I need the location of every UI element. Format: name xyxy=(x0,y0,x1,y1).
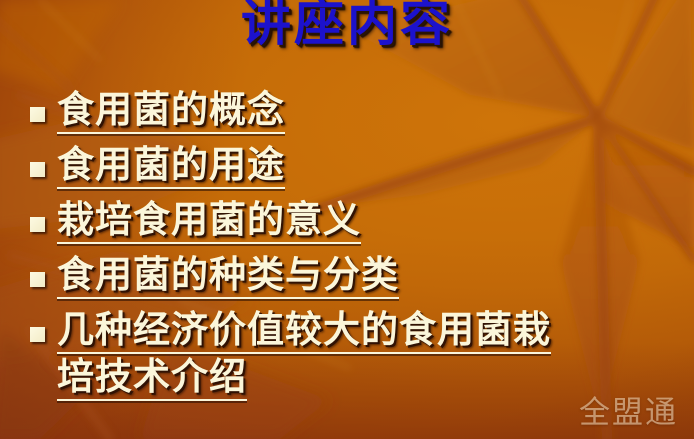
bullet-square-icon xyxy=(30,162,45,177)
bullet-square-icon xyxy=(30,107,45,122)
bullet-item-text: 食用菌的种类与分类 xyxy=(57,251,680,298)
list-item[interactable]: 食用菌的用途 xyxy=(30,141,680,188)
bullet-item-text: 食用菌的概念 xyxy=(57,86,680,133)
bullet-item-text: 食用菌的用途 xyxy=(57,141,680,188)
bullet-item-line1: 食用菌的种类与分类 xyxy=(57,253,399,299)
list-item[interactable]: 食用菌的种类与分类 xyxy=(30,251,680,298)
bullet-square-icon xyxy=(30,327,45,342)
bullet-item-line2: 培技术介绍 xyxy=(57,355,247,401)
watermark-text: 全盟通 xyxy=(579,393,678,433)
list-item[interactable]: 食用菌的概念 xyxy=(30,86,680,133)
bullet-list: 食用菌的概念 食用菌的用途 栽培食用菌的意义 食用菌的种类与分类 几种经济价值较… xyxy=(30,86,680,408)
bullet-square-icon xyxy=(30,272,45,287)
bullet-item-text: 几种经济价值较大的食用菌栽培技术介绍 xyxy=(57,306,680,400)
bullet-item-line1: 食用菌的概念 xyxy=(57,88,285,134)
slide-title: 讲座内容 xyxy=(0,0,694,52)
bullet-item-line1: 几种经济价值较大的食用菌栽 xyxy=(57,308,551,354)
list-item[interactable]: 几种经济价值较大的食用菌栽培技术介绍 xyxy=(30,306,680,400)
bullet-item-text: 栽培食用菌的意义 xyxy=(57,196,680,243)
list-item[interactable]: 栽培食用菌的意义 xyxy=(30,196,680,243)
presentation-slide: 讲座内容 食用菌的概念 食用菌的用途 栽培食用菌的意义 食用菌的种类与分类 几种… xyxy=(0,0,694,439)
bullet-square-icon xyxy=(30,217,45,232)
bullet-item-line1: 栽培食用菌的意义 xyxy=(57,198,361,244)
bullet-item-line1: 食用菌的用途 xyxy=(57,143,285,189)
